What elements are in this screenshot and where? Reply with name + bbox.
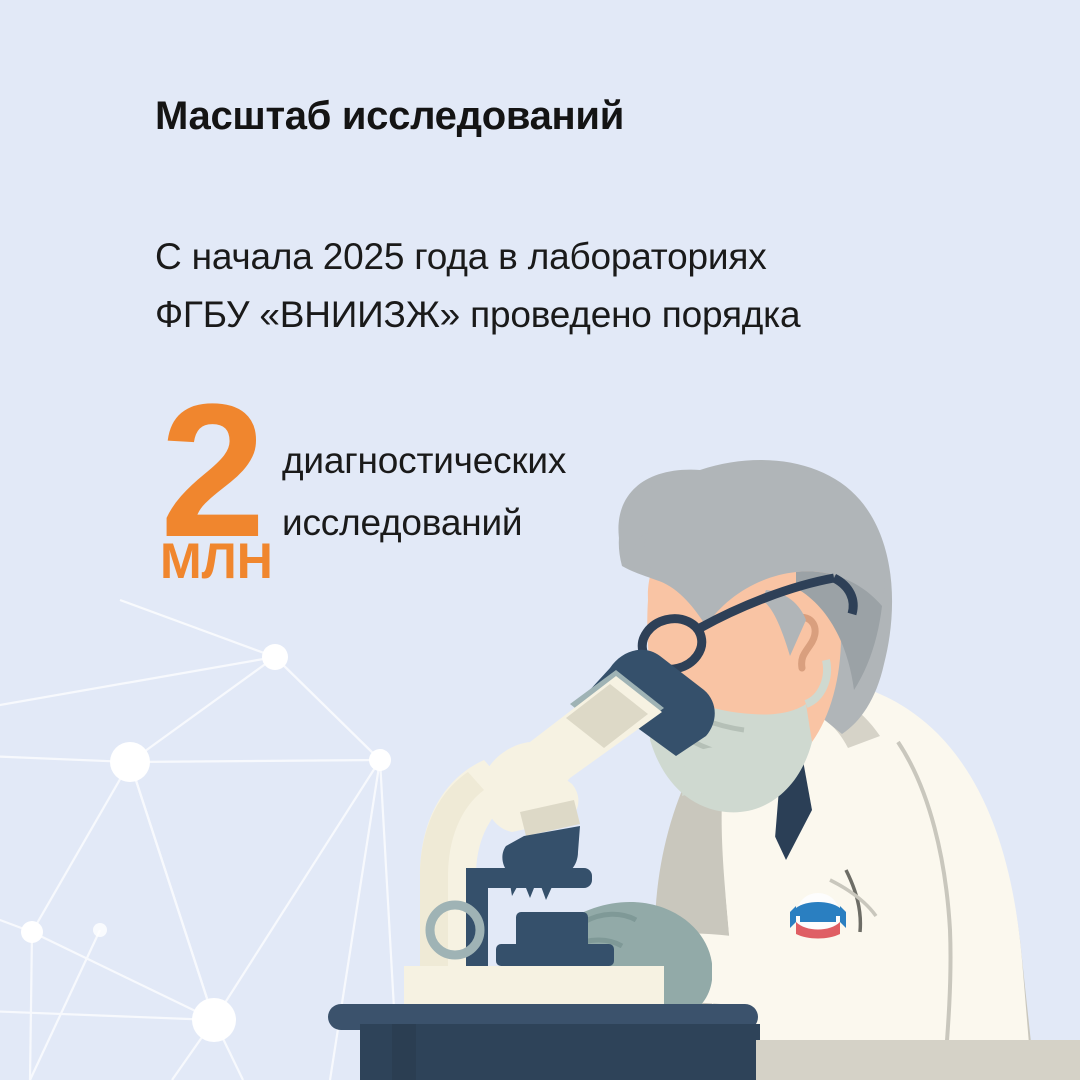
microscope-specimen-clip	[516, 912, 588, 950]
page-title: Масштаб исследований	[155, 94, 624, 139]
floor-strip	[756, 1040, 1080, 1080]
stat-unit: МЛН	[160, 536, 273, 586]
microscope-objectives	[502, 826, 580, 900]
statistic-block: 2 МЛН диагностических исследований	[152, 398, 712, 598]
stat-label: диагностических исследований	[282, 430, 566, 554]
desk-body	[360, 1024, 760, 1080]
glove-cuff-sleeve	[712, 943, 778, 1011]
lead-paragraph: С начала 2025 года в лабораториях ФГБУ «…	[155, 228, 800, 344]
infographic-canvas: Масштаб исследований С начала 2025 года …	[0, 0, 1080, 1080]
microscope-base	[404, 966, 664, 1010]
desk-shadow	[392, 1024, 416, 1080]
